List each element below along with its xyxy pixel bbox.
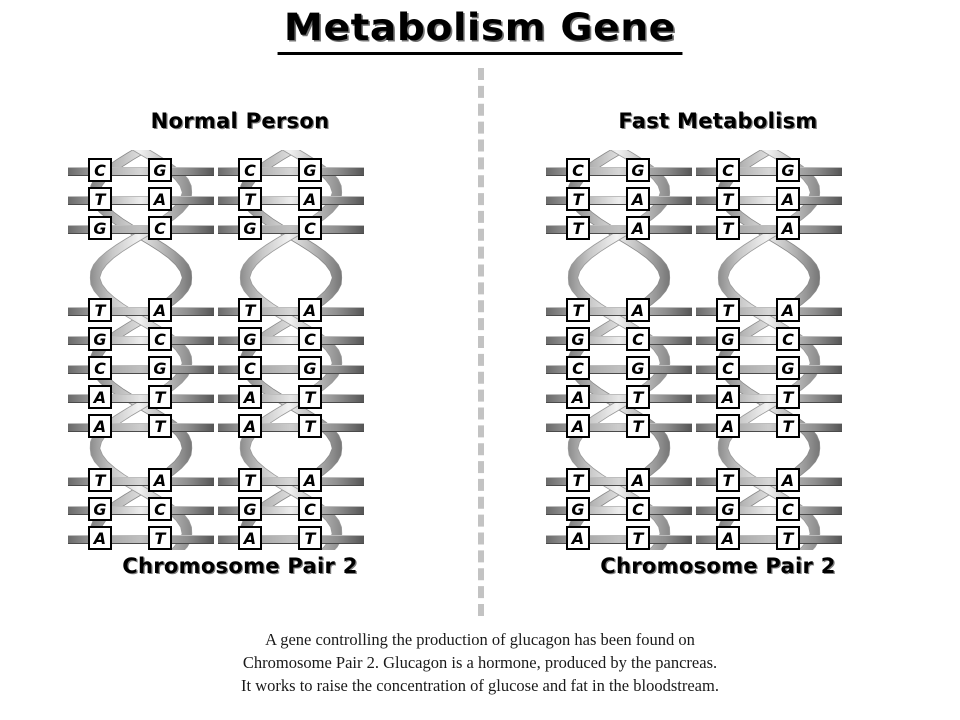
caption-line: Chromosome Pair 2. Glucagon is a hormone… (0, 651, 960, 674)
caption-block: A gene controlling the production of glu… (0, 628, 960, 697)
panel-divider (478, 68, 484, 616)
panel-heading: Fast Metabolism (492, 108, 944, 138)
panel-fast-metabolism: Fast Metabolism CGTATATAGCCGATATTAGCATCG… (492, 108, 944, 578)
title-container: Metabolism Gene (0, 6, 960, 55)
dna-helix-chromosome-2: CGTATATAGCCGATATTAGCAT (694, 150, 844, 550)
panel-footer-label: Chromosome Pair 2 (14, 554, 466, 578)
panel-normal-person: Normal Person CGTAGCTAGCCGATATTAGCATCGTA… (14, 108, 466, 578)
caption-line: It works to raise the concentration of g… (0, 674, 960, 697)
page-title: Metabolism Gene (278, 6, 683, 55)
chromosome-pair: CGTAGCTAGCCGATATTAGCATCGTAGCTAGCCGATATTA… (14, 150, 466, 550)
dna-helix-chromosome-1: CGTAGCTAGCCGATATTAGCAT (66, 150, 216, 550)
panel-heading: Normal Person (14, 108, 466, 138)
chromosome-pair: CGTATATAGCCGATATTAGCATCGTATATAGCCGATATTA… (492, 150, 944, 550)
dna-helix-chromosome-1: CGTATATAGCCGATATTAGCAT (544, 150, 694, 550)
panel-footer-label: Chromosome Pair 2 (492, 554, 944, 578)
caption-line: A gene controlling the production of glu… (0, 628, 960, 651)
dna-helix-chromosome-2: CGTAGCTAGCCGATATTAGCAT (216, 150, 366, 550)
